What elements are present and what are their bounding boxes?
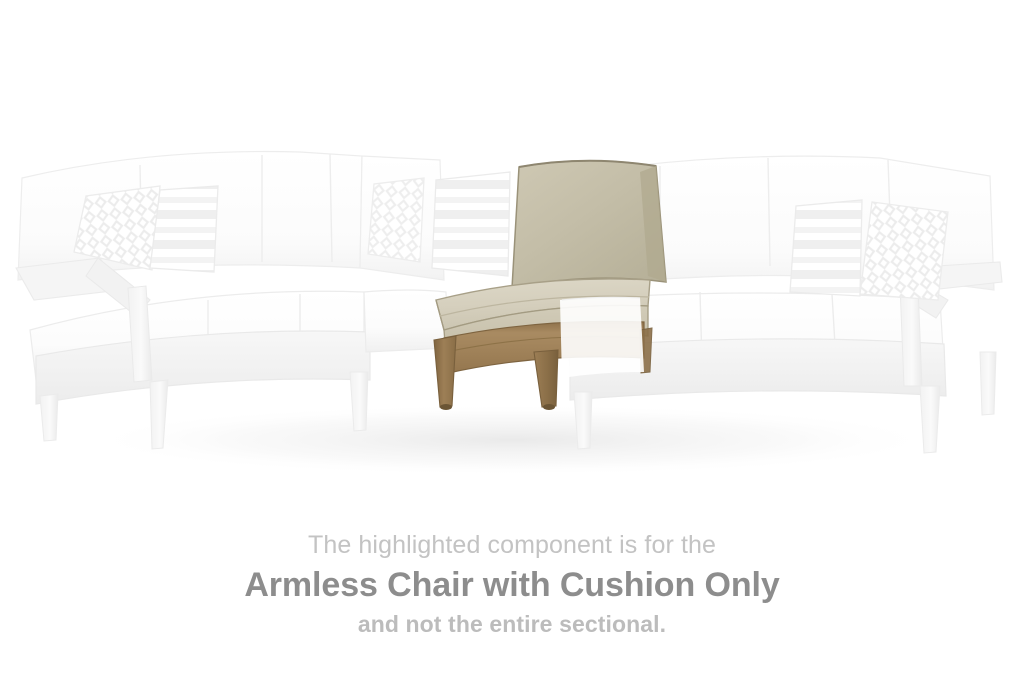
left-sofa-leg-front-left bbox=[40, 394, 58, 441]
caption-line-component-name: Armless Chair with Cushion Only bbox=[0, 562, 1024, 608]
corner-striped-pillow bbox=[432, 172, 510, 276]
floor-shadow bbox=[82, 404, 942, 476]
corner-geometric-pillow bbox=[368, 178, 424, 262]
left-striped-pillow bbox=[150, 186, 218, 272]
product-callout-page: The highlighted component is for the Arm… bbox=[0, 0, 1024, 683]
product-illustration bbox=[0, 0, 1024, 500]
armless-chair-leg-right bbox=[534, 350, 558, 407]
right-sofa-leg-right-back bbox=[980, 352, 996, 415]
right-geometric-pillow bbox=[860, 202, 948, 300]
callout-caption: The highlighted component is for the Arm… bbox=[0, 528, 1024, 640]
sectional-sofa-graphic bbox=[0, 0, 1024, 500]
caption-line-disclaimer: and not the entire sectional. bbox=[0, 608, 1024, 640]
armless-chair-leg-left bbox=[434, 336, 456, 407]
caption-line-intro: The highlighted component is for the bbox=[0, 528, 1024, 562]
right-striped-pillow bbox=[790, 200, 862, 296]
right-sofa-leg-right-front bbox=[920, 386, 940, 453]
left-sofa-section bbox=[16, 152, 370, 449]
